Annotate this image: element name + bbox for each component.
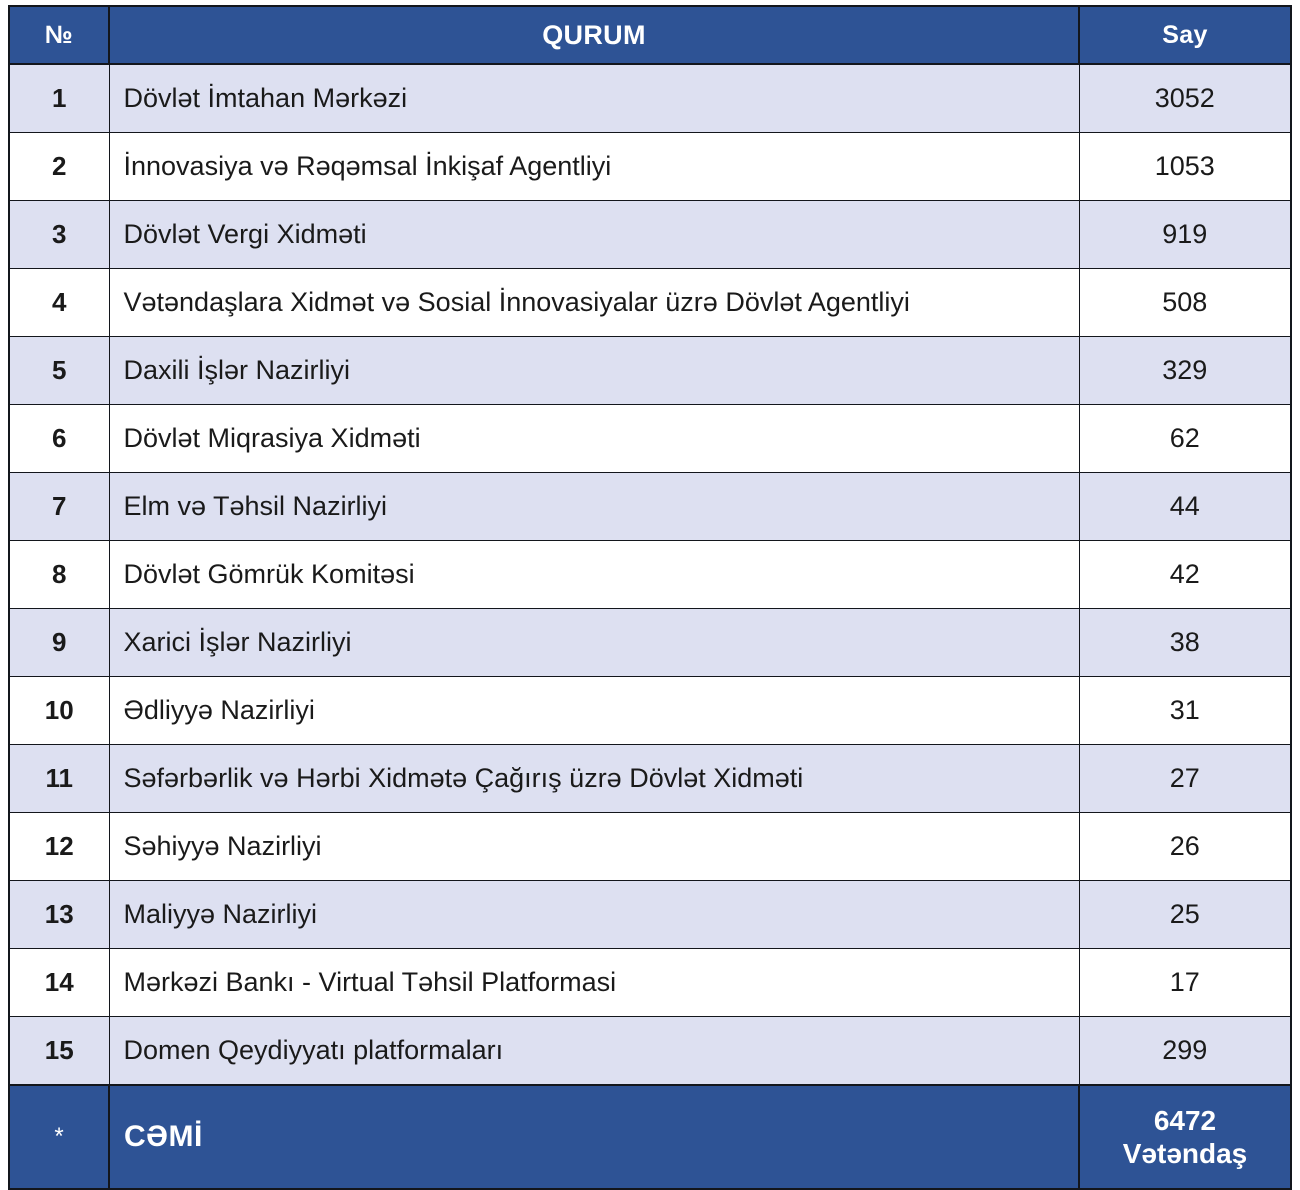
total-count-cell: 6472Vətəndaş (1079, 1085, 1291, 1189)
row-number-cell: 4 (9, 269, 109, 337)
row-number-cell: 10 (9, 677, 109, 745)
table-row: 8Dövlət Gömrük Komitəsi42 (9, 541, 1291, 609)
count-cell: 44 (1079, 473, 1291, 541)
count-cell: 299 (1079, 1017, 1291, 1086)
organization-name-cell: Domen Qeydiyyatı platformaları (109, 1017, 1079, 1086)
count-cell: 3052 (1079, 64, 1291, 133)
table-row: 13Maliyyə Nazirliyi25 (9, 881, 1291, 949)
page-root: № QURUM Say 1Dövlət İmtahan Mərkəzi30522… (0, 0, 1300, 1143)
count-cell: 329 (1079, 337, 1291, 405)
row-number-cell: 5 (9, 337, 109, 405)
organizations-statistics-table: № QURUM Say 1Dövlət İmtahan Mərkəzi30522… (8, 5, 1292, 1190)
organization-name-cell: Vətəndaşlara Xidmət və Sosial İnnovasiya… (109, 269, 1079, 337)
table-row: 15Domen Qeydiyyatı platformaları299 (9, 1017, 1291, 1086)
total-count-unit: Vətəndaş (1081, 1137, 1289, 1170)
table-row: 3Dövlət Vergi Xidməti919 (9, 201, 1291, 269)
total-marker-cell: * (9, 1085, 109, 1189)
row-number-cell: 11 (9, 745, 109, 813)
organization-name-cell: İnnovasiya və Rəqəmsal İnkişaf Agentliyi (109, 133, 1079, 201)
row-number-cell: 14 (9, 949, 109, 1017)
count-cell: 919 (1079, 201, 1291, 269)
organization-name-cell: Dövlət Vergi Xidməti (109, 201, 1079, 269)
row-number-cell: 3 (9, 201, 109, 269)
organization-name-cell: Xarici İşlər Nazirliyi (109, 609, 1079, 677)
column-header-organization: QURUM (109, 6, 1079, 64)
table-row: 2İnnovasiya və Rəqəmsal İnkişaf Agentliy… (9, 133, 1291, 201)
table-body: 1Dövlət İmtahan Mərkəzi30522İnnovasiya v… (9, 64, 1291, 1189)
row-number-cell: 8 (9, 541, 109, 609)
table-row: 12Səhiyyə Nazirliyi26 (9, 813, 1291, 881)
table-row: 9Xarici İşlər Nazirliyi38 (9, 609, 1291, 677)
table-row: 10Ədliyyə Nazirliyi31 (9, 677, 1291, 745)
table-row: 11Səfərbərlik və Hərbi Xidmətə Çağırış ü… (9, 745, 1291, 813)
organization-name-cell: Mərkəzi Bankı - Virtual Təhsil Platforma… (109, 949, 1079, 1017)
table-row: 4Vətəndaşlara Xidmət və Sosial İnnovasiy… (9, 269, 1291, 337)
total-row: *CƏMİ6472Vətəndaş (9, 1085, 1291, 1189)
organization-name-cell: Dövlət Gömrük Komitəsi (109, 541, 1079, 609)
total-count-number: 6472 (1081, 1104, 1289, 1137)
count-cell: 38 (1079, 609, 1291, 677)
organization-name-cell: Elm və Təhsil Nazirliyi (109, 473, 1079, 541)
row-number-cell: 15 (9, 1017, 109, 1086)
column-header-number: № (9, 6, 109, 64)
count-cell: 62 (1079, 405, 1291, 473)
row-number-cell: 13 (9, 881, 109, 949)
row-number-cell: 6 (9, 405, 109, 473)
count-cell: 1053 (1079, 133, 1291, 201)
organization-name-cell: Maliyyə Nazirliyi (109, 881, 1079, 949)
row-number-cell: 1 (9, 64, 109, 133)
header-row: № QURUM Say (9, 6, 1291, 64)
organization-name-cell: Dövlət Miqrasiya Xidməti (109, 405, 1079, 473)
table-row: 14Mərkəzi Bankı - Virtual Təhsil Platfor… (9, 949, 1291, 1017)
row-number-cell: 9 (9, 609, 109, 677)
count-cell: 508 (1079, 269, 1291, 337)
organization-name-cell: Səhiyyə Nazirliyi (109, 813, 1079, 881)
count-cell: 31 (1079, 677, 1291, 745)
row-number-cell: 12 (9, 813, 109, 881)
row-number-cell: 7 (9, 473, 109, 541)
table-row: 7Elm və Təhsil Nazirliyi44 (9, 473, 1291, 541)
row-number-cell: 2 (9, 133, 109, 201)
count-cell: 25 (1079, 881, 1291, 949)
count-cell: 27 (1079, 745, 1291, 813)
count-cell: 17 (1079, 949, 1291, 1017)
organization-name-cell: Ədliyyə Nazirliyi (109, 677, 1079, 745)
total-label-cell: CƏMİ (109, 1085, 1079, 1189)
organization-name-cell: Dövlət İmtahan Mərkəzi (109, 64, 1079, 133)
table-row: 1Dövlət İmtahan Mərkəzi3052 (9, 64, 1291, 133)
count-cell: 26 (1079, 813, 1291, 881)
table-header: № QURUM Say (9, 6, 1291, 64)
column-header-count: Say (1079, 6, 1291, 64)
organization-name-cell: Səfərbərlik və Hərbi Xidmətə Çağırış üzr… (109, 745, 1079, 813)
table-row: 6Dövlət Miqrasiya Xidməti62 (9, 405, 1291, 473)
count-cell: 42 (1079, 541, 1291, 609)
table-row: 5Daxili İşlər Nazirliyi329 (9, 337, 1291, 405)
organization-name-cell: Daxili İşlər Nazirliyi (109, 337, 1079, 405)
